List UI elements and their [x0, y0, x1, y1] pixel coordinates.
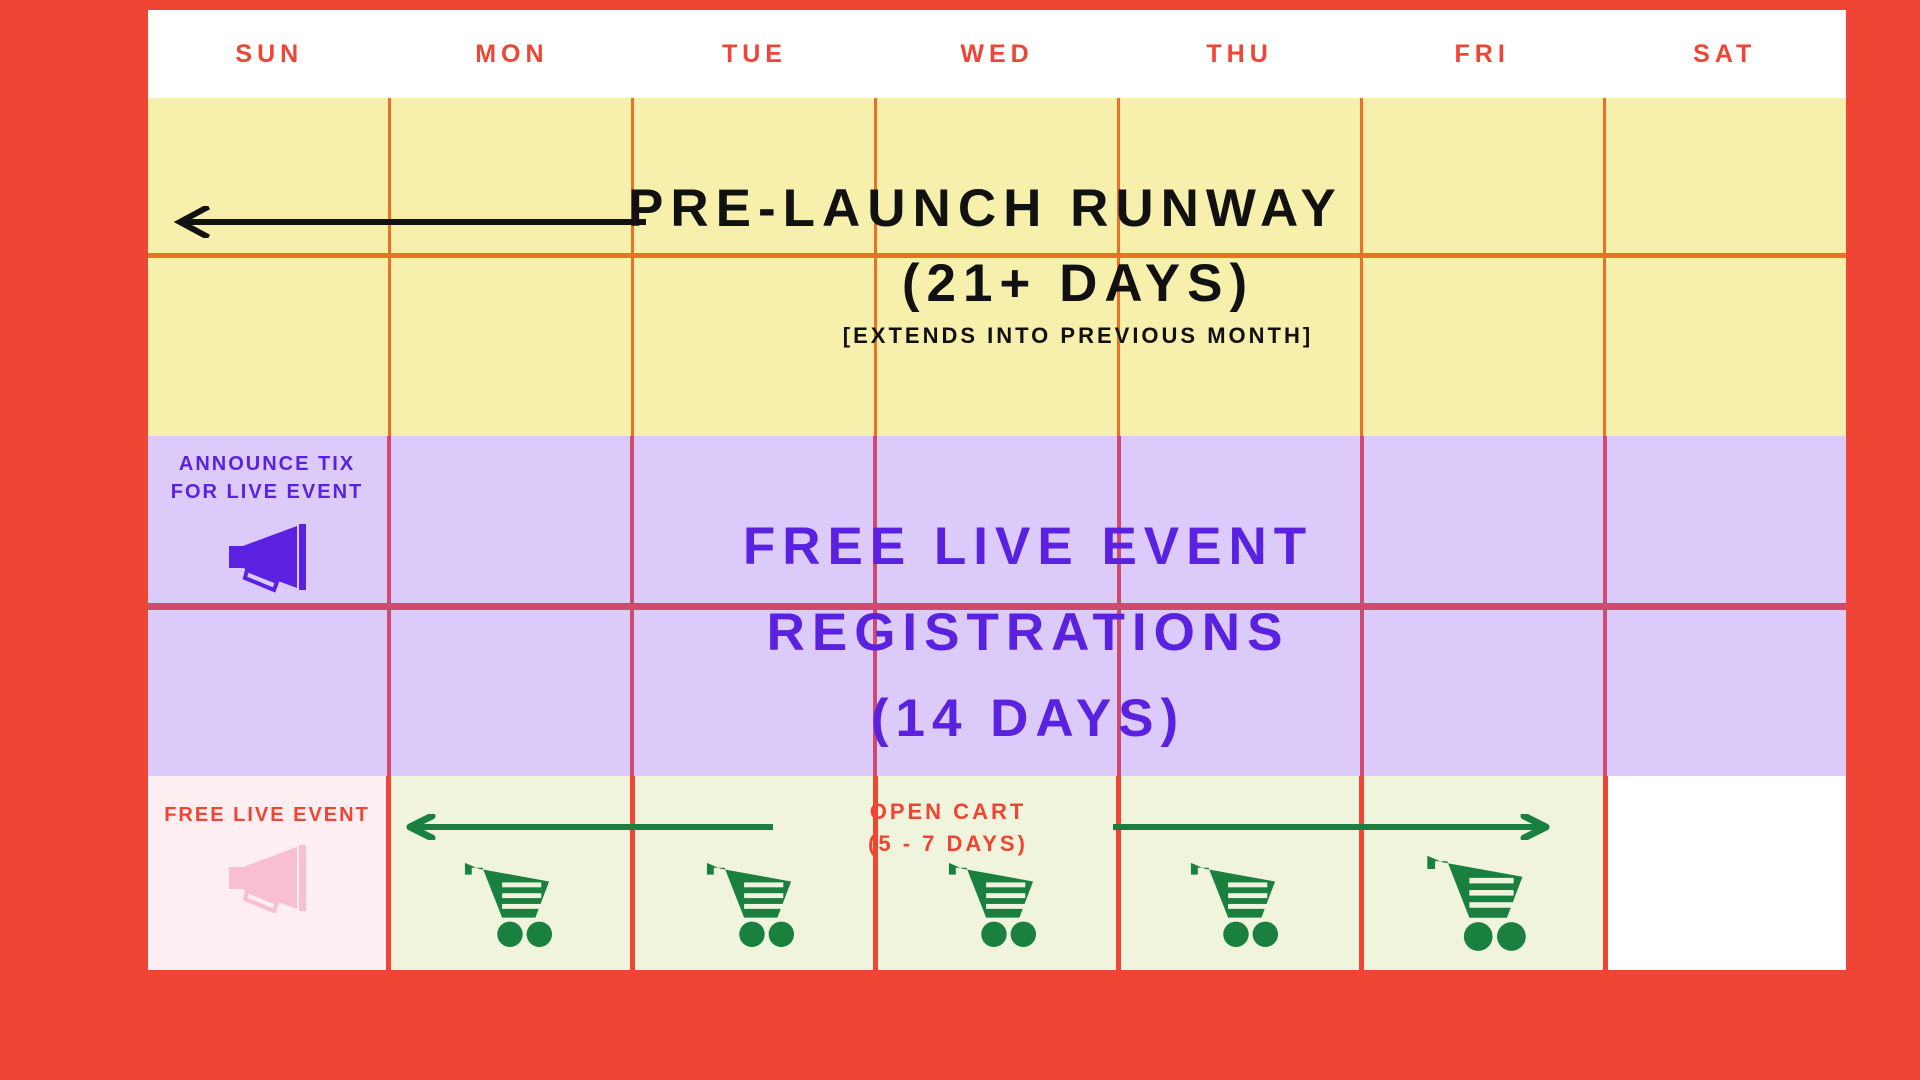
- day-header-fri: FRI: [1361, 10, 1604, 98]
- bottom-cell-mon: [391, 776, 629, 970]
- bottom-cell-fri: [1364, 776, 1602, 970]
- yellow-cell-sun: [148, 98, 388, 436]
- yellow-cell-thu: [1120, 98, 1360, 436]
- bottom-grid: [148, 776, 1846, 970]
- yellow-cell-sat: [1606, 98, 1846, 436]
- purple-row-divider: [148, 603, 1846, 610]
- bottom-cell-tue: [635, 776, 873, 970]
- day-header-thu: THU: [1118, 10, 1361, 98]
- yellow-cell-wed: [877, 98, 1117, 436]
- day-header-mon: MON: [391, 10, 634, 98]
- day-header-tue: TUE: [633, 10, 876, 98]
- bottom-cell-wed: [878, 776, 1116, 970]
- pre-launch-runway-band: [148, 98, 1846, 436]
- bottom-cell-sun: [148, 776, 386, 970]
- yellow-cell-mon: [391, 98, 631, 436]
- free-registrations-band: [148, 436, 1846, 776]
- day-header-sat: SAT: [1603, 10, 1846, 98]
- yellow-cell-tue: [634, 98, 874, 436]
- bottom-cell-sat: [1608, 776, 1846, 970]
- open-cart-band: [148, 776, 1846, 970]
- yellow-grid: [148, 98, 1846, 436]
- bottom-cell-thu: [1121, 776, 1359, 970]
- yellow-row-divider: [148, 253, 1846, 258]
- day-header-wed: WED: [876, 10, 1119, 98]
- weekday-header-row: SUN MON TUE WED THU FRI SAT: [148, 10, 1846, 98]
- day-header-sun: SUN: [148, 10, 391, 98]
- marketing-launch-calendar: SUN MON TUE WED THU FRI SAT PRE-LAUNCH R…: [148, 10, 1846, 1070]
- yellow-cell-fri: [1363, 98, 1603, 436]
